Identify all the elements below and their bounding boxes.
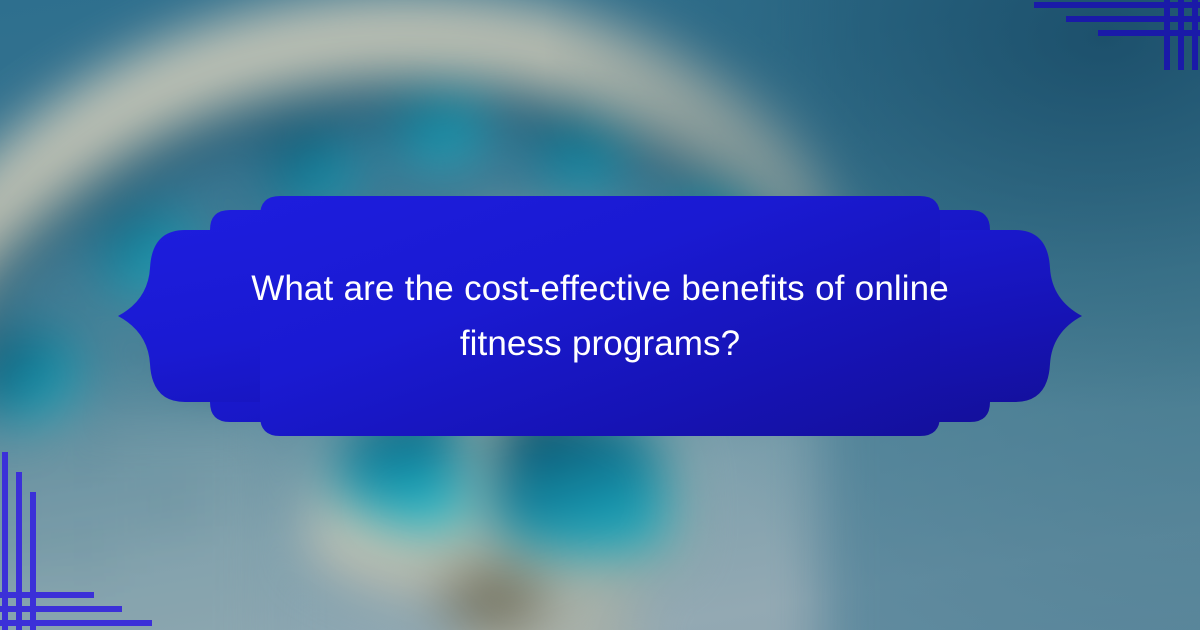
- ornamental-quote-card: What are the cost-effective benefits of …: [110, 196, 1090, 436]
- card-question-text: What are the cost-effective benefits of …: [215, 196, 985, 436]
- quote-card-canvas: What are the cost-effective benefits of …: [0, 0, 1200, 630]
